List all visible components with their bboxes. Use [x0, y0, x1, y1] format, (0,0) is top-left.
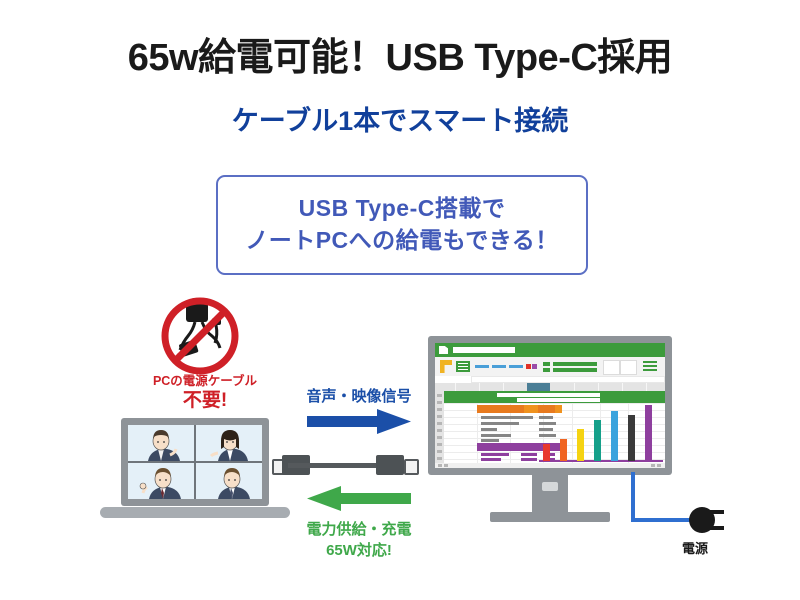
callout-line-1: USB Type-C搭載で: [299, 193, 506, 225]
woman-short-hair-avatar: [128, 425, 194, 461]
video-tile-4: [196, 463, 262, 499]
data-bar: [481, 416, 533, 419]
video-tile-3: [128, 463, 194, 499]
external-monitor: [428, 336, 672, 536]
row-headers[interactable]: [435, 391, 444, 468]
toolbar-block-1[interactable]: [543, 362, 550, 366]
video-tile-2: [196, 425, 262, 461]
orange-row-accent-left: [477, 405, 524, 413]
chart-bar: [645, 405, 652, 461]
usb-c-connector-right: [376, 455, 404, 475]
power-arrow-label-line-2: 65W対応!: [285, 539, 433, 560]
toolbar-dash-1[interactable]: [475, 365, 489, 368]
toolbar-square-red[interactable]: [526, 364, 531, 369]
spreadsheet-toolbar: [435, 357, 665, 376]
monitor-neck-detail: [542, 482, 558, 491]
power-plug-icon: [688, 500, 724, 540]
toolbar-square-purple[interactable]: [532, 364, 537, 369]
data-bar: [481, 422, 519, 425]
toolbar-block-3[interactable]: [553, 362, 597, 366]
signal-arrow-right-icon: [307, 409, 411, 434]
prohibition-ac-adapter-icon: [152, 296, 248, 376]
chart-bar: [577, 429, 584, 461]
toolbar-box-1[interactable]: [603, 360, 620, 375]
bar-chart: [539, 403, 663, 463]
power-arrow-label-line-1: 電力供給・充電: [285, 518, 433, 539]
no-ac-adapter-group: PCの電源ケーブル 不要!: [130, 296, 280, 416]
data-bar: [481, 439, 499, 442]
spreadsheet-logo-icon: [439, 346, 448, 354]
status-bar: [435, 463, 665, 468]
column-headers[interactable]: [435, 383, 665, 391]
toolbar-box-2[interactable]: [620, 360, 637, 375]
laptop-screen: [121, 418, 269, 506]
man-suit-avatar: [196, 463, 262, 499]
power-label: 電源: [640, 538, 750, 557]
toolbar-block-4[interactable]: [553, 368, 597, 372]
chart-bar: [543, 444, 550, 461]
callout-box: USB Type-C搭載で ノートPCへの給電もできる！: [216, 175, 588, 275]
spreadsheet-title-bar: [435, 343, 665, 357]
monitor-bezel: [428, 336, 672, 475]
toolbar-folder-icon[interactable]: [440, 360, 452, 373]
sheet-header-band: [444, 391, 665, 403]
data-bar: [481, 428, 497, 431]
formula-input[interactable]: [471, 376, 665, 383]
laptop-base: [100, 507, 290, 518]
toolbar-dash-3[interactable]: [509, 365, 523, 368]
toolbar-block-2[interactable]: [543, 368, 550, 372]
signal-arrow-label: 音声・映像信号: [288, 385, 430, 406]
laptop-video-call: [100, 418, 290, 526]
selected-column-header[interactable]: [527, 383, 550, 391]
chart-bar: [628, 415, 635, 461]
page-title: 65w給電可能！USB Type-C採用: [0, 26, 800, 81]
no-ac-label-line-2: 不要!: [130, 385, 280, 412]
power-cable-vertical: [631, 472, 635, 522]
man-suit-waving-avatar: [128, 463, 194, 499]
purple-bar: [521, 453, 537, 456]
monitor-neck: [532, 475, 568, 513]
callout-line-2: ノートPCへの給電もできる！: [245, 225, 559, 257]
video-tile-1: [128, 425, 194, 461]
purple-bar: [481, 453, 509, 456]
monitor-screen: [435, 343, 665, 468]
spreadsheet-title-placeholder: [453, 347, 515, 353]
woman-long-hair-avatar: [196, 425, 262, 461]
spreadsheet-app: [435, 343, 665, 468]
page-subtitle: ケーブル1本でスマート接続: [0, 99, 800, 138]
toolbar-dash-2[interactable]: [492, 365, 506, 368]
monitor-foot: [490, 512, 610, 522]
chart-bar: [611, 411, 618, 461]
toolbar-menu-icon[interactable]: [643, 361, 657, 372]
usb-c-tip-right: [404, 459, 419, 475]
chart-bar: [594, 420, 601, 461]
poster-canvas: 65w給電可能！USB Type-C採用 ケーブル1本でスマート接続 USB T…: [0, 0, 800, 600]
power-cable-horizontal: [631, 518, 693, 522]
data-bar: [481, 434, 511, 437]
video-call-grid: [128, 425, 262, 499]
purple-bar: [481, 458, 501, 461]
chart-bar: [560, 439, 567, 461]
power-arrow-left-icon: [307, 486, 411, 511]
purple-bar: [521, 458, 537, 461]
toolbar-table-icon[interactable]: [456, 361, 470, 372]
